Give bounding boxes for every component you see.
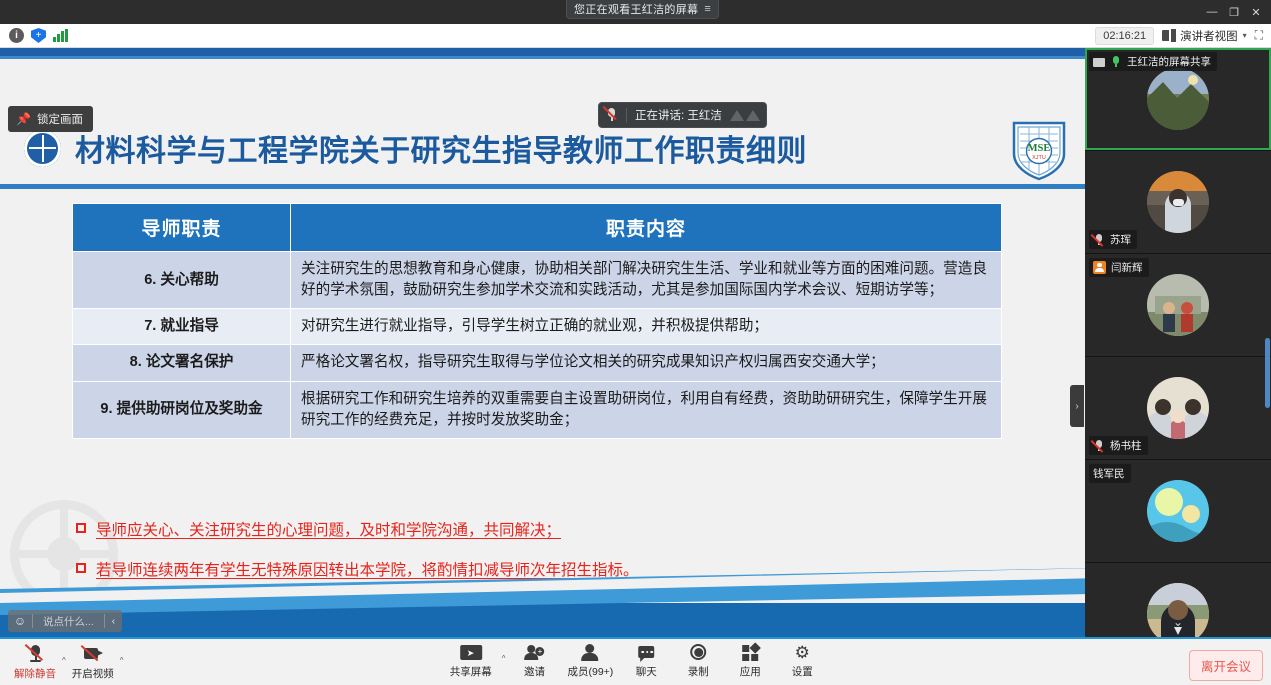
slide-title-underline xyxy=(0,184,1085,189)
chevron-down-icon: ▾ xyxy=(1243,31,1247,40)
table-cell-content: 对研究生进行就业指导，引导学生树立正确的就业观，并积极提供帮助； xyxy=(291,309,1002,345)
scroll-down-icon[interactable]: ⌄ xyxy=(1173,615,1183,629)
toolbar-center-group: ➤ 共享屏幕 ^ + 邀请 成员(99+) 聊天 xyxy=(446,642,826,679)
participant-tile[interactable]: 钱军民 xyxy=(1085,460,1271,563)
participant-name: 王红洁的屏幕共享 xyxy=(1127,54,1211,69)
slide-title-row: 材料科学与工程学院关于研究生指导教师工作职责细则 xyxy=(24,126,995,170)
members-button[interactable]: 成员(99+) xyxy=(563,642,617,679)
start-video-label: 开启视频 xyxy=(72,666,114,681)
participant-name-chip: 苏珲 xyxy=(1089,230,1137,249)
share-screen-label: 共享屏幕 xyxy=(450,664,492,679)
share-screen-icon: ➤ xyxy=(460,644,482,662)
presentation-slide: 材料科学与工程学院关于研究生指导教师工作职责细则 MSE XJTU 导师职责 xyxy=(0,48,1085,637)
start-video-button[interactable]: 开启视频 xyxy=(68,642,118,681)
chat-button[interactable]: 聊天 xyxy=(623,642,669,679)
svg-text:XJTU: XJTU xyxy=(1032,155,1046,161)
square-bullet-icon xyxy=(76,523,86,533)
svg-text:MSE: MSE xyxy=(1028,143,1051,154)
gear-icon: ⚙ xyxy=(791,644,813,662)
participant-name: 杨书柱 xyxy=(1110,438,1142,453)
emoji-icon[interactable]: ☺ xyxy=(8,614,32,628)
slide-top-band xyxy=(0,48,1085,56)
settings-button[interactable]: ⚙ 设置 xyxy=(779,642,825,679)
participant-name: 苏珲 xyxy=(1110,232,1131,247)
participant-name: 钱军民 xyxy=(1093,466,1125,481)
viewing-screen-notice: 您正在观看王红洁的屏幕 ≡ xyxy=(566,0,719,19)
apps-icon xyxy=(739,644,761,662)
participant-name-chip: 杨书柱 xyxy=(1089,436,1148,455)
participant-strip-scrollbar[interactable] xyxy=(1265,338,1270,408)
fullscreen-icon[interactable]: ⛶ xyxy=(1255,28,1263,43)
collapse-panel-handle[interactable]: › xyxy=(1070,385,1084,427)
table-header-duty: 导师职责 xyxy=(73,204,291,252)
status-icons-group: i + xyxy=(0,28,68,43)
apps-label: 应用 xyxy=(740,664,761,679)
invite-button[interactable]: + 邀请 xyxy=(511,642,557,679)
table-row: 8. 论文署名保护 严格论文署名权，指导研究生取得与学位论文相关的研究成果知识产… xyxy=(73,345,1002,381)
table-cell-content: 根据研究工作和研究生培养的双重需要自主设置助研岗位，利用自有经费，资助助研研究生… xyxy=(291,381,1002,438)
audio-wave-icon xyxy=(730,110,760,121)
slide-title: 材料科学与工程学院关于研究生指导教师工作职责细则 xyxy=(75,126,807,170)
avatar xyxy=(1147,171,1209,233)
avatar xyxy=(1147,274,1209,336)
viewing-screen-notice-text: 您正在观看王红洁的屏幕 xyxy=(574,1,698,17)
table-row: 6. 关心帮助 关注研究生的思想教育和身心健康，协助相关部门解决研究生生活、学业… xyxy=(73,252,1002,309)
participant-tile[interactable]: 苏珲 xyxy=(1085,151,1271,254)
slide-top-band-2 xyxy=(0,56,1085,59)
record-button[interactable]: 录制 xyxy=(675,642,721,679)
mic-on-icon xyxy=(1110,56,1122,68)
meeting-info-strip: i + 02:16:21 演讲者视图 ▾ ⛶ xyxy=(0,24,1271,48)
table-header-row: 导师职责 职责内容 xyxy=(73,204,1002,252)
host-icon xyxy=(1093,261,1106,274)
square-bullet-icon xyxy=(76,563,86,573)
participant-tile[interactable]: 闫新辉 xyxy=(1085,254,1271,357)
settings-label: 设置 xyxy=(792,664,813,679)
minimize-button[interactable]: — xyxy=(1201,3,1223,21)
speaker-view-icon xyxy=(1162,30,1175,41)
chat-label: 聊天 xyxy=(636,664,657,679)
members-icon xyxy=(579,644,601,662)
participant-tile-screenshare[interactable]: 王红洁的屏幕共享 xyxy=(1085,48,1271,151)
participant-name-chip: 闫新辉 xyxy=(1089,258,1149,277)
table-row: 7. 就业指导 对研究生进行就业指导，引导学生树立正确的就业观，并积极提供帮助； xyxy=(73,309,1002,345)
invite-label: 邀请 xyxy=(524,664,545,679)
globe-icon xyxy=(24,130,61,167)
shield-icon[interactable]: + xyxy=(31,28,46,43)
participant-tile[interactable]: 杨书柱 xyxy=(1085,357,1271,460)
audio-options-caret[interactable]: ^ xyxy=(62,656,66,681)
bullet-text: 导师应关心、关注研究生的心理问题，及时和学院沟通，共同解决； xyxy=(96,518,561,540)
table-header-content: 职责内容 xyxy=(291,204,1002,252)
pin-icon: 📌 xyxy=(16,112,31,126)
zoom-meeting-window: — ❐ ✕ 您正在观看王红洁的屏幕 ≡ i + 02:16:21 演讲者视图 ▾… xyxy=(0,0,1271,685)
view-mode-label: 演讲者视图 xyxy=(1180,28,1238,44)
mic-off-icon xyxy=(1093,234,1105,246)
maximize-button[interactable]: ❐ xyxy=(1223,3,1245,21)
meeting-toolbar: 解除静音 ^ 开启视频 ^ S 中 °, ☻ 🎙 👕 xyxy=(0,637,1271,685)
unmute-button[interactable]: 解除静音 xyxy=(10,642,60,681)
collapse-chat-icon[interactable]: ‹ xyxy=(105,616,122,627)
lock-screen-tooltip[interactable]: 📌 锁定画面 xyxy=(8,106,93,132)
invite-icon: + xyxy=(523,644,545,662)
info-strip-right: 02:16:21 演讲者视图 ▾ ⛶ xyxy=(1095,27,1271,45)
participant-name: 闫新辉 xyxy=(1111,260,1143,275)
chat-input[interactable]: 说点什么... xyxy=(33,614,104,629)
participant-strip[interactable]: 王红洁的屏幕共享 苏珲 xyxy=(1085,48,1271,637)
record-label: 录制 xyxy=(688,664,709,679)
leave-meeting-button[interactable]: 离开会议 xyxy=(1189,650,1263,681)
avatar xyxy=(1147,480,1209,542)
table-cell-duty: 6. 关心帮助 xyxy=(73,252,291,309)
avatar xyxy=(1147,377,1209,439)
table-cell-content: 严格论文署名权，指导研究生取得与学位论文相关的研究成果知识产权归属西安交通大学； xyxy=(291,345,1002,381)
chat-icon xyxy=(635,644,657,662)
mse-shield-logo: MSE XJTU xyxy=(1011,120,1067,182)
notice-menu-icon[interactable]: ≡ xyxy=(704,4,710,15)
participant-name-chip: 钱军民 xyxy=(1089,464,1131,483)
meeting-timer: 02:16:21 xyxy=(1095,27,1154,45)
mic-muted-icon xyxy=(605,107,618,123)
share-screen-button[interactable]: ➤ 共享屏幕 xyxy=(446,642,496,679)
floating-chat-bar[interactable]: ☺ 说点什么... ‹ xyxy=(8,610,122,632)
close-button[interactable]: ✕ xyxy=(1245,3,1267,21)
toolbar-left-group: 解除静音 ^ 开启视频 ^ xyxy=(10,642,124,681)
active-speaker-label: 正在讲话: 王红洁 xyxy=(635,107,722,123)
bullet-item: 若导师连续两年有学生无特殊原因转出本学院，将酌情扣减导师次年招生指标。 xyxy=(76,558,639,580)
camera-off-icon xyxy=(81,644,105,664)
info-icon[interactable]: i xyxy=(9,28,24,43)
lock-screen-label: 锁定画面 xyxy=(37,111,83,127)
members-label: 成员(99+) xyxy=(567,664,613,679)
avatar xyxy=(1147,68,1209,130)
unmute-label: 解除静音 xyxy=(14,666,56,681)
table-cell-duty: 7. 就业指导 xyxy=(73,309,291,345)
table-row: 9. 提供助研岗位及奖助金 根据研究工作和研究生培养的双重需要自主设置助研岗位，… xyxy=(73,381,1002,438)
active-speaker-chip: 正在讲话: 王红洁 xyxy=(598,102,767,128)
record-icon xyxy=(687,644,709,662)
bullet-text: 若导师连续两年有学生无特殊原因转出本学院，将酌情扣减导师次年招生指标。 xyxy=(96,558,639,580)
share-options-caret[interactable]: ^ xyxy=(502,654,506,679)
bullet-item: 导师应关心、关注研究生的心理问题，及时和学院沟通，共同解决； xyxy=(76,518,639,540)
responsibility-table: 导师职责 职责内容 6. 关心帮助 关注研究生的思想教育和身心健康，协助相关部门… xyxy=(72,203,1002,439)
shared-screen-area: 材料科学与工程学院关于研究生指导教师工作职责细则 MSE XJTU 导师职责 xyxy=(0,48,1085,637)
video-options-caret[interactable]: ^ xyxy=(120,656,124,681)
table-cell-duty: 8. 论文署名保护 xyxy=(73,345,291,381)
screen-share-icon xyxy=(1093,58,1105,67)
table-cell-duty: 9. 提供助研岗位及奖助金 xyxy=(73,381,291,438)
mic-muted-icon xyxy=(23,644,47,664)
table-cell-content: 关注研究生的思想教育和身心健康，协助相关部门解决研究生生活、学业和就业等方面的困… xyxy=(291,252,1002,309)
view-mode-selector[interactable]: 演讲者视图 ▾ xyxy=(1162,28,1247,44)
mic-off-icon xyxy=(1093,440,1105,452)
signal-bars-icon[interactable] xyxy=(53,29,68,42)
participant-name-chip: 王红洁的屏幕共享 xyxy=(1089,52,1217,71)
divider xyxy=(626,108,627,123)
window-controls: — ❐ ✕ xyxy=(1201,3,1267,21)
apps-button[interactable]: 应用 xyxy=(727,642,773,679)
